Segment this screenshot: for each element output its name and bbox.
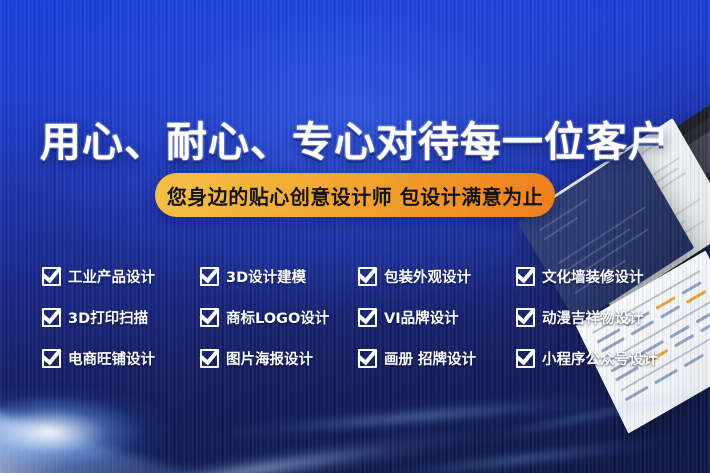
feature-item-packaging-design[interactable]: 包装外观设计 (358, 266, 516, 287)
light-streak (421, 370, 710, 464)
checkbox-checked-icon (516, 349, 535, 368)
subtitle-pill: 您身边的贴心创意设计师 包设计满意为止 (155, 173, 555, 217)
stripe-texture-soft (0, 0, 710, 473)
feature-item-culture-wall-decoration-design[interactable]: 文化墙装修设计 (516, 266, 674, 287)
feature-label: 包装外观设计 (384, 266, 471, 287)
feature-label: 工业产品设计 (68, 266, 155, 287)
feature-item-vi-brand-design[interactable]: VI品牌设计 (358, 307, 516, 328)
feature-item-trademark-logo-design[interactable]: 商标LOGO设计 (200, 307, 358, 328)
checkbox-checked-icon (358, 267, 377, 286)
light-flare (0, 372, 220, 473)
checkbox-checked-icon (516, 308, 535, 327)
stripe-texture (0, 0, 710, 473)
feature-item-anime-mascot-design[interactable]: 动漫吉祥物设计 (516, 307, 674, 328)
feature-label: 画册 招牌设计 (384, 348, 476, 369)
checkbox-checked-icon (358, 308, 377, 327)
feature-item-ecommerce-shop-design[interactable]: 电商旺铺设计 (42, 348, 200, 369)
checkbox-checked-icon (200, 349, 219, 368)
promo-banner: 用心、耐心、专心对待每一位客户 您身边的贴心创意设计师 包设计满意为止 工业产品… (0, 0, 710, 473)
feature-item-industrial-product-design[interactable]: 工业产品设计 (42, 266, 200, 287)
light-streak (70, 367, 710, 473)
feature-label: 商标LOGO设计 (226, 307, 329, 328)
checkbox-checked-icon (42, 308, 61, 327)
feature-label: 3D设计建模 (226, 266, 306, 287)
feature-item-3d-design-modeling[interactable]: 3D设计建模 (200, 266, 358, 287)
checkbox-checked-icon (200, 267, 219, 286)
subtitle-text: 您身边的贴心创意设计师 包设计满意为止 (167, 181, 543, 210)
feature-label: 3D打印扫描 (68, 307, 148, 328)
feature-item-miniprogram-official-account-design[interactable]: 小程序公众号设计 (516, 348, 674, 369)
feature-label: 文化墙装修设计 (542, 266, 644, 287)
feature-item-image-poster-design[interactable]: 图片海报设计 (200, 348, 358, 369)
feature-label: 动漫吉祥物设计 (542, 307, 644, 328)
feature-item-3d-printing-scanning[interactable]: 3D打印扫描 (42, 307, 200, 328)
feature-label: 电商旺铺设计 (68, 348, 155, 369)
checkbox-checked-icon (516, 267, 535, 286)
feature-label: VI品牌设计 (384, 307, 459, 328)
checkbox-checked-icon (42, 267, 61, 286)
feature-item-brochure-signage-design[interactable]: 画册 招牌设计 (358, 348, 516, 369)
feature-label: 图片海报设计 (226, 348, 313, 369)
light-beam (0, 406, 374, 473)
checkbox-checked-icon (358, 349, 377, 368)
checkbox-checked-icon (200, 308, 219, 327)
light-streak (329, 415, 710, 473)
checkbox-checked-icon (42, 349, 61, 368)
feature-list: 工业产品设计 3D设计建模 包装外观设计 文化墙装修设计 3D打印扫描 商标LO… (42, 256, 674, 379)
light-streak (189, 368, 710, 457)
feature-label: 小程序公众号设计 (542, 348, 658, 369)
headline: 用心、耐心、专心对待每一位客户 (0, 108, 710, 168)
